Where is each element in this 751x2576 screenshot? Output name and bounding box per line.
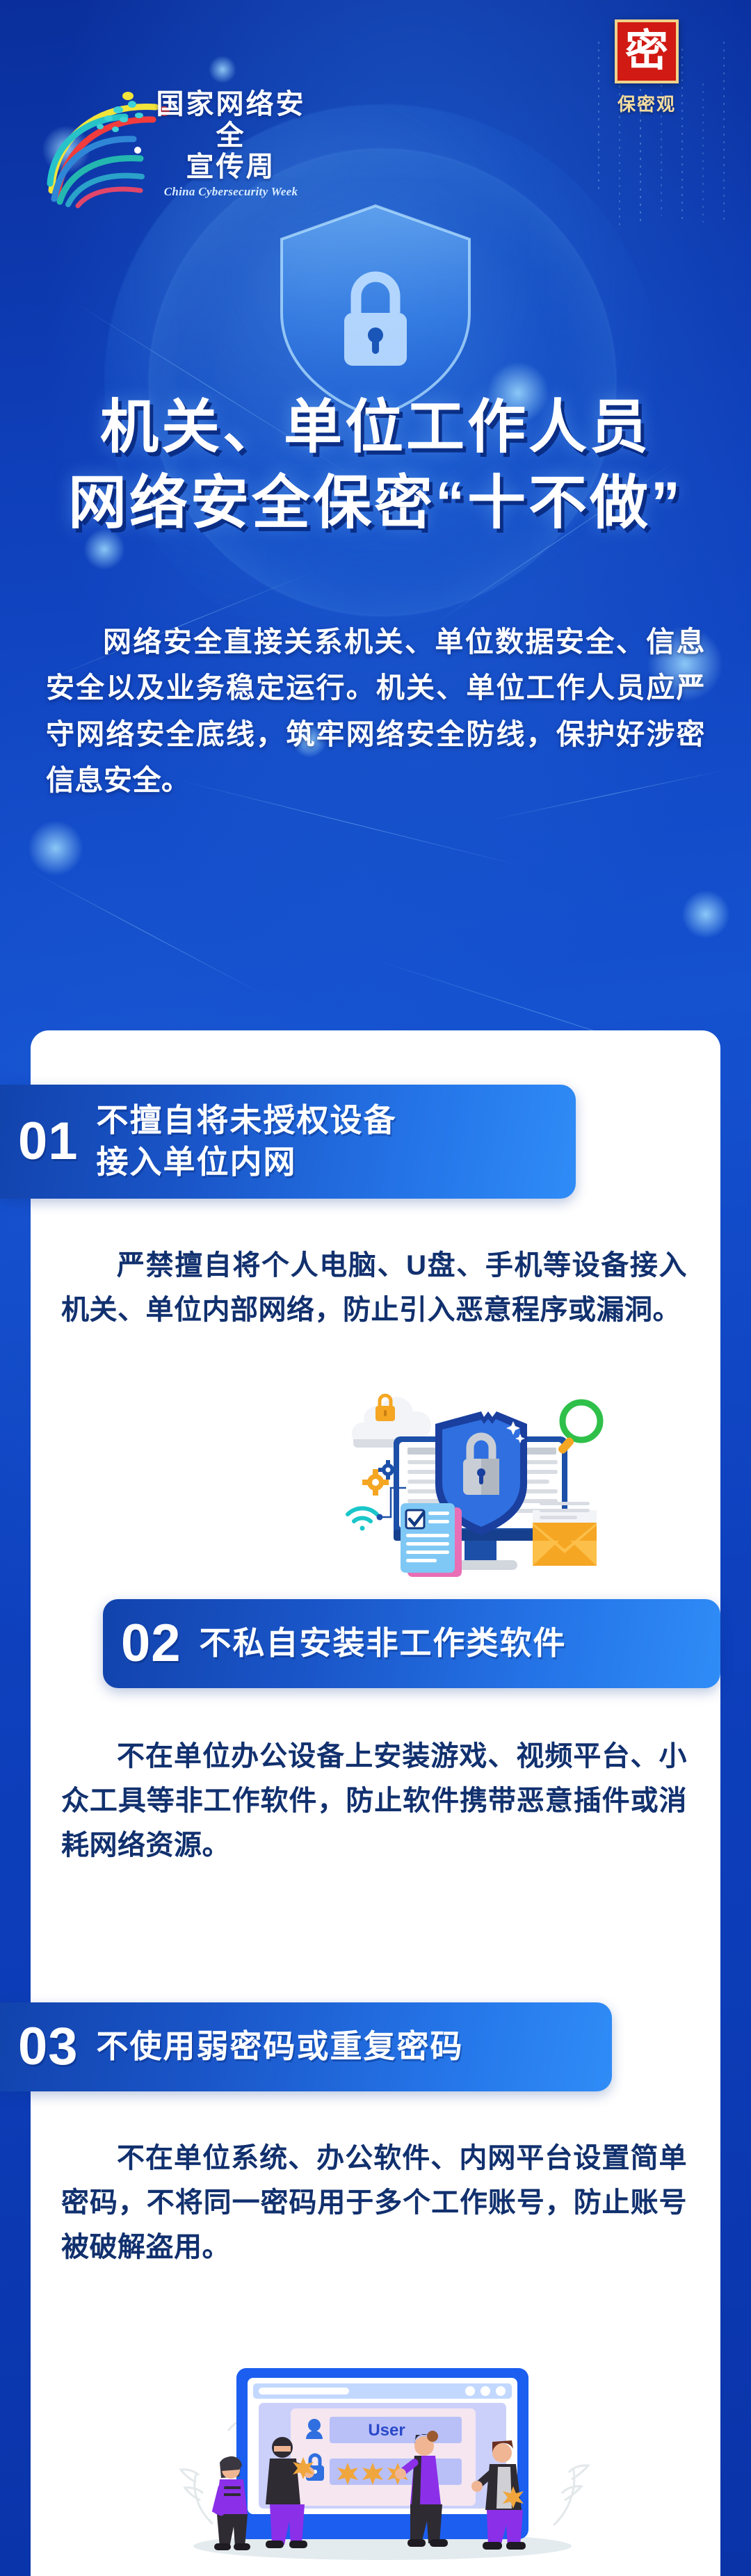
logo-line-2: 宣传周: [144, 152, 318, 183]
seal-glyph: 密: [625, 30, 668, 73]
item-title-01-line-2: 接入单位内网: [97, 1142, 397, 1183]
item-title-03: 不使用弱密码或重复密码: [97, 2026, 464, 2068]
item-number-01: 01: [18, 1115, 79, 1168]
item-title-01-line-1: 不擅自将未授权设备: [97, 1100, 397, 1142]
red-seal-icon: 密: [615, 19, 679, 83]
password-theft-illustration: User: [160, 2364, 605, 2573]
item-number-03: 03: [18, 2020, 79, 2073]
intro-paragraph: 网络安全直接关系机关、单位数据安全、信息安全以及业务稳定运行。机关、单位工作人员…: [0, 619, 751, 804]
item-heading-02[interactable]: 02 不私自安装非工作类软件: [103, 1599, 720, 1688]
title-line-2: 网络安全保密“十不做”: [21, 465, 730, 541]
cybersecurity-week-logo: 国家网络安全 宣传周 China Cybersecurity Week: [36, 82, 314, 207]
baomiguan-logo: 密 保密观: [584, 19, 709, 116]
item-heading-03[interactable]: 03 不使用弱密码或重复密码: [0, 2002, 612, 2091]
wifi-icon: [348, 1508, 377, 1530]
item-title-02: 不私自安装非工作类软件: [200, 1623, 567, 1664]
envelope-icon: [533, 1502, 597, 1566]
title-line-1: 机关、单位工作人员: [21, 389, 730, 465]
checklist-icon: [401, 1503, 462, 1577]
item-body-02: 不在单位办公设备上安装游戏、视频平台、小众工具等非工作软件，防止软件携带恶意插件…: [61, 1734, 687, 1868]
gear-icon: [362, 1460, 398, 1496]
item-title-01: 不擅自将未授权设备 接入单位内网: [97, 1100, 397, 1183]
infographic-poster: 国家网络安全 宣传周 China Cybersecurity Week 密 保密…: [0, 0, 751, 2576]
logo-line-1: 国家网络安全: [144, 89, 318, 152]
item-number-02: 02: [121, 1617, 181, 1670]
page-title: 机关、单位工作人员 网络安全保密“十不做”: [0, 389, 751, 541]
magnifier-icon: [557, 1402, 600, 1455]
username-field-label: User: [368, 2421, 405, 2440]
baomiguan-label: 保密观: [584, 90, 709, 116]
item-body-01: 严禁擅自将个人电脑、U盘、手机等设备接入机关、单位内部网络，防止引入恶意程序或漏…: [61, 1243, 687, 1332]
item-body-03: 不在单位系统、办公软件、内网平台设置简单密码，不将同一密码用于多个工作账号，防止…: [61, 2136, 687, 2269]
item-heading-01[interactable]: 01 不擅自将未授权设备 接入单位内网: [0, 1085, 576, 1199]
monitor-shield-lock-illustration: [341, 1378, 633, 1587]
